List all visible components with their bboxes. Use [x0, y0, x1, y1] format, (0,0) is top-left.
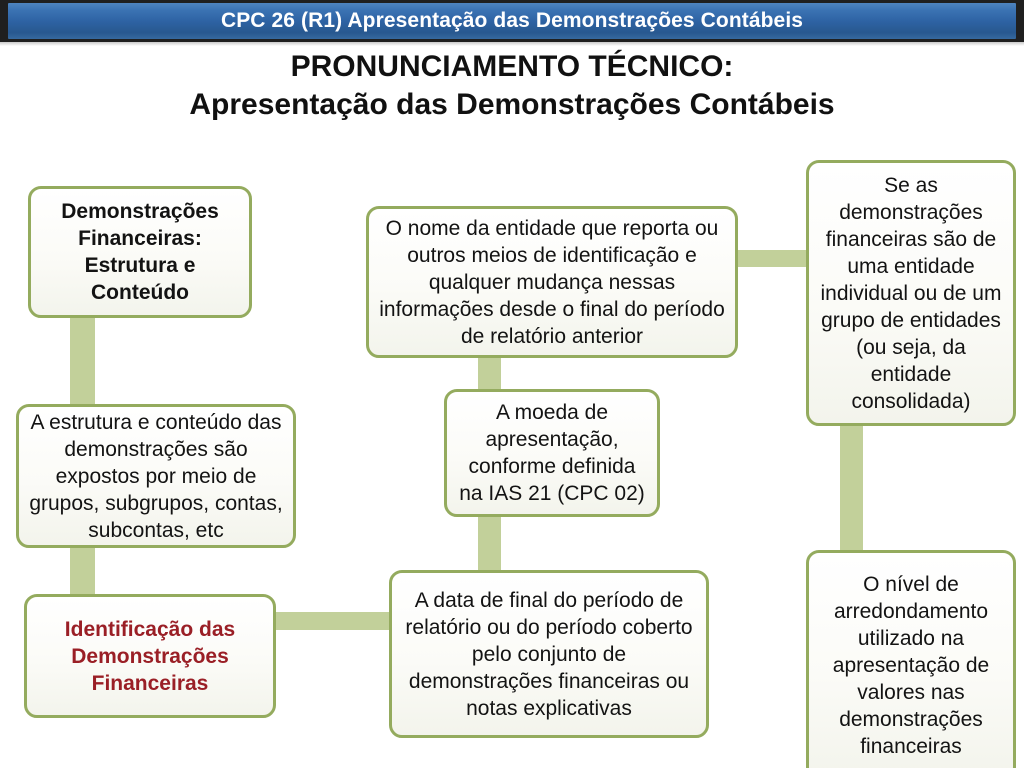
connector-se-as-to-nivel — [840, 420, 863, 556]
node-nivel-de-arredondamento[interactable]: O nível de arredondamento utilizado na a… — [806, 550, 1016, 768]
header-title: CPC 26 (R1) Apresentação das Demonstraçõ… — [8, 3, 1016, 39]
connector-nome-entidade-to-se-as — [732, 250, 812, 267]
page-title-line-2: Apresentação das Demonstrações Contábeis — [0, 86, 1024, 124]
header-underline-divider — [0, 42, 1024, 46]
header-band: CPC 26 (R1) Apresentação das Demonstraçõ… — [0, 0, 1024, 42]
connector-estrutura-to-identificacao — [70, 542, 95, 600]
node-entidade-individual-ou-consolidada[interactable]: Se as demonstrações financeiras são de u… — [806, 160, 1016, 426]
node-identificacao-das-demonstracoes-financeiras[interactable]: Identificação das Demonstrações Financei… — [24, 594, 276, 718]
header-bar: CPC 26 (R1) Apresentação das Demonstraçõ… — [8, 3, 1016, 39]
node-nome-da-entidade[interactable]: O nome da entidade que reporta ou outros… — [366, 206, 738, 358]
slide-canvas: CPC 26 (R1) Apresentação das Demonstraçõ… — [0, 0, 1024, 768]
connector-moeda-to-data-final — [478, 511, 501, 576]
node-data-final-do-periodo[interactable]: A data de final do período de relatório … — [389, 570, 709, 738]
node-demonstracoes-financeiras-estrutura-conteudo[interactable]: Demonstrações Financeiras: Estrutura e C… — [28, 186, 252, 318]
node-moeda-de-apresentacao[interactable]: A moeda de apresentação, conforme defini… — [444, 389, 660, 517]
page-title: PRONUNCIAMENTO TÉCNICO: Apresentação das… — [0, 48, 1024, 124]
node-estrutura-e-conteudo-exposicao[interactable]: A estrutura e conteúdo das demonstrações… — [16, 404, 296, 548]
connector-struct-conteudo-to-estrutura — [70, 312, 95, 410]
connector-identificacao-to-data-final — [270, 612, 395, 630]
page-title-line-1: PRONUNCIAMENTO TÉCNICO: — [291, 50, 734, 83]
